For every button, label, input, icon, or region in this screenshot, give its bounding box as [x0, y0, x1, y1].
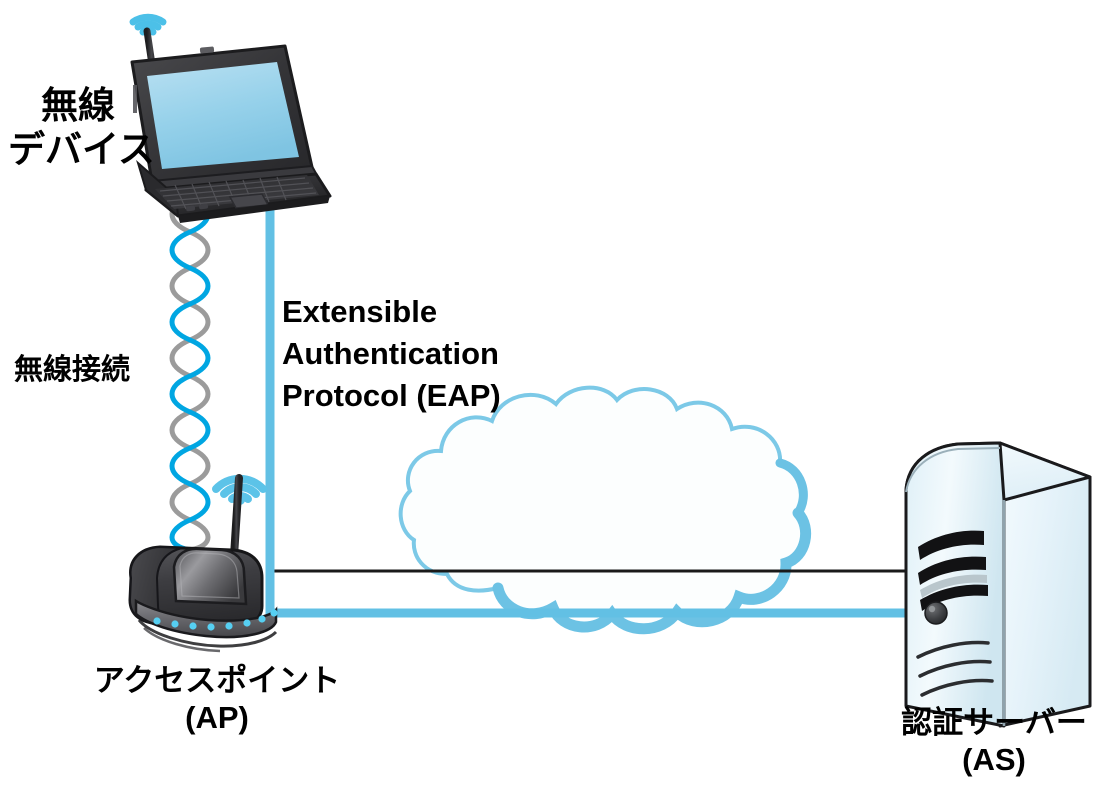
- laptop-icon: [132, 17, 330, 223]
- antenna-rod-ap: [234, 478, 239, 556]
- label-wireless-connection: 無線接続: [14, 353, 166, 387]
- server-tower-icon: [906, 443, 1090, 726]
- label-wireless-device: 無線 デバイス: [8, 84, 148, 171]
- wireless-connection-helix: [172, 196, 208, 550]
- label-eap-protocol: Extensible Authentication Protocol (EAP): [282, 291, 532, 417]
- label-access-point: アクセスポイント (AP): [72, 663, 362, 736]
- laptop-screen: [147, 62, 299, 169]
- label-auth-server: 認証サーバー (AS): [878, 705, 1110, 778]
- wireless-router-icon: [130, 478, 278, 651]
- diagram-canvas: 無線 デバイス 無線接続 Extensible Authentication P…: [0, 0, 1116, 791]
- server-power-button: [925, 602, 947, 624]
- cloud-icon: [401, 388, 806, 629]
